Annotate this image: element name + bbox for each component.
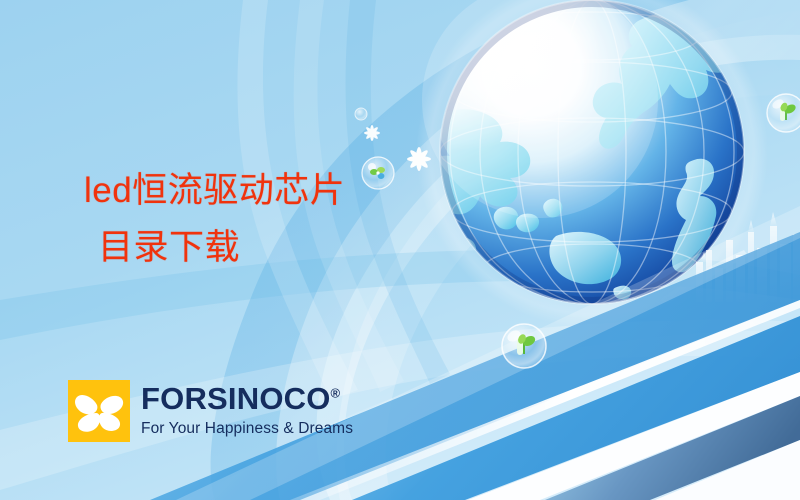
registered-trademark-icon: ® xyxy=(331,386,341,401)
company-logo[interactable]: FORSINOCO® For Your Happiness & Dreams xyxy=(68,380,353,442)
poster-canvas: led恒流驱动芯片 目录下载 FORSINOCO® For Your Happi… xyxy=(0,0,800,500)
headline-text: led恒流驱动芯片 目录下载 xyxy=(84,163,414,276)
logo-wordmark: FORSINOCO® For Your Happiness & Dreams xyxy=(141,380,353,437)
brand-name-text: FORSINOCO xyxy=(141,381,331,416)
headline-line-1: led恒流驱动芯片 xyxy=(84,171,345,210)
four-petal-flower-icon xyxy=(68,380,130,442)
brand-tagline: For Your Happiness & Dreams xyxy=(141,421,353,437)
bubble-sprout xyxy=(502,324,546,368)
bubble-pinwheel xyxy=(355,108,367,120)
headline-line-2: 目录下载 xyxy=(84,220,414,277)
brand-name: FORSINOCO® xyxy=(141,383,353,414)
bubble-sprout xyxy=(767,94,800,132)
